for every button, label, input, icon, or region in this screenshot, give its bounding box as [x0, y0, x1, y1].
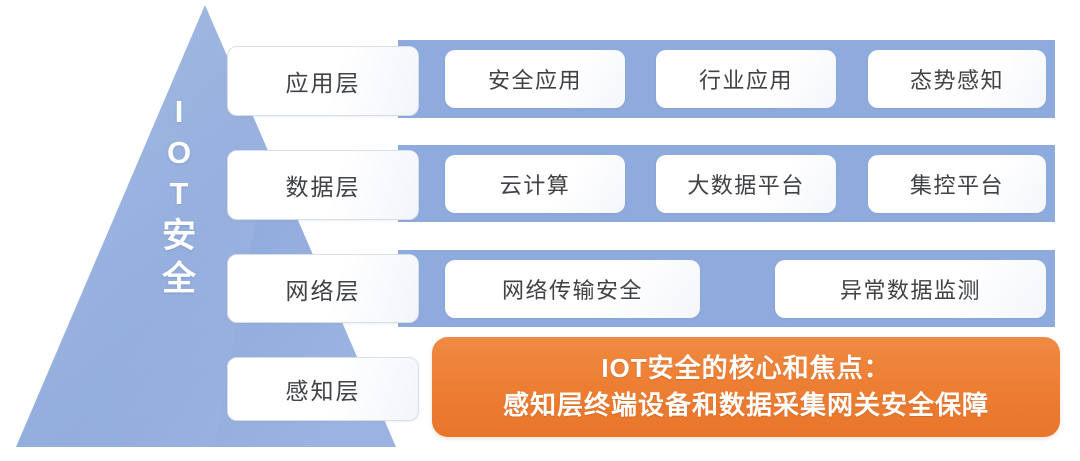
layer-chip-network[interactable]: 网络层: [227, 254, 419, 323]
item-box-label: 行业应用: [699, 63, 793, 95]
core-focus-banner[interactable]: IOT安全的核心和焦点： 感知层终端设备和数据采集网关安全保障: [432, 337, 1060, 437]
item-box-security-application[interactable]: 安全应用: [445, 50, 625, 108]
item-box-cloud-computing[interactable]: 云计算: [445, 155, 625, 213]
item-box-label: 云计算: [500, 168, 571, 200]
item-box-central-control-platform[interactable]: 集控平台: [868, 155, 1046, 213]
layer-chip-application[interactable]: 应用层: [227, 46, 419, 116]
core-focus-banner-line-2: 感知层终端设备和数据采集网关安全保障: [503, 387, 989, 424]
layer-chip-perception[interactable]: 感知层: [227, 357, 419, 421]
iot-security-layer-diagram: I O T 安 全 应用层 安全应用 行业应用 态势感知 数据层 云计算 大数据…: [0, 0, 1080, 461]
item-box-industry-application[interactable]: 行业应用: [656, 50, 836, 108]
item-box-abnormal-data-monitoring[interactable]: 异常数据监测: [775, 260, 1046, 318]
item-box-network-transmission-security[interactable]: 网络传输安全: [445, 260, 700, 318]
item-box-label: 态势感知: [910, 63, 1004, 95]
layer-chip-label: 网络层: [286, 272, 361, 306]
item-box-label: 网络传输安全: [502, 273, 643, 305]
item-box-label: 安全应用: [488, 63, 582, 95]
item-box-label: 大数据平台: [687, 168, 805, 200]
layer-chip-data[interactable]: 数据层: [227, 150, 419, 220]
item-box-big-data-platform[interactable]: 大数据平台: [656, 155, 836, 213]
layer-chip-label: 数据层: [286, 168, 361, 202]
core-focus-banner-line-1: IOT安全的核心和焦点：: [601, 350, 890, 387]
item-box-label: 集控平台: [910, 168, 1004, 200]
layer-chip-label: 应用层: [286, 64, 361, 98]
item-box-label: 异常数据监测: [840, 273, 981, 305]
layer-chip-label: 感知层: [286, 372, 361, 406]
item-box-situational-awareness[interactable]: 态势感知: [868, 50, 1046, 108]
